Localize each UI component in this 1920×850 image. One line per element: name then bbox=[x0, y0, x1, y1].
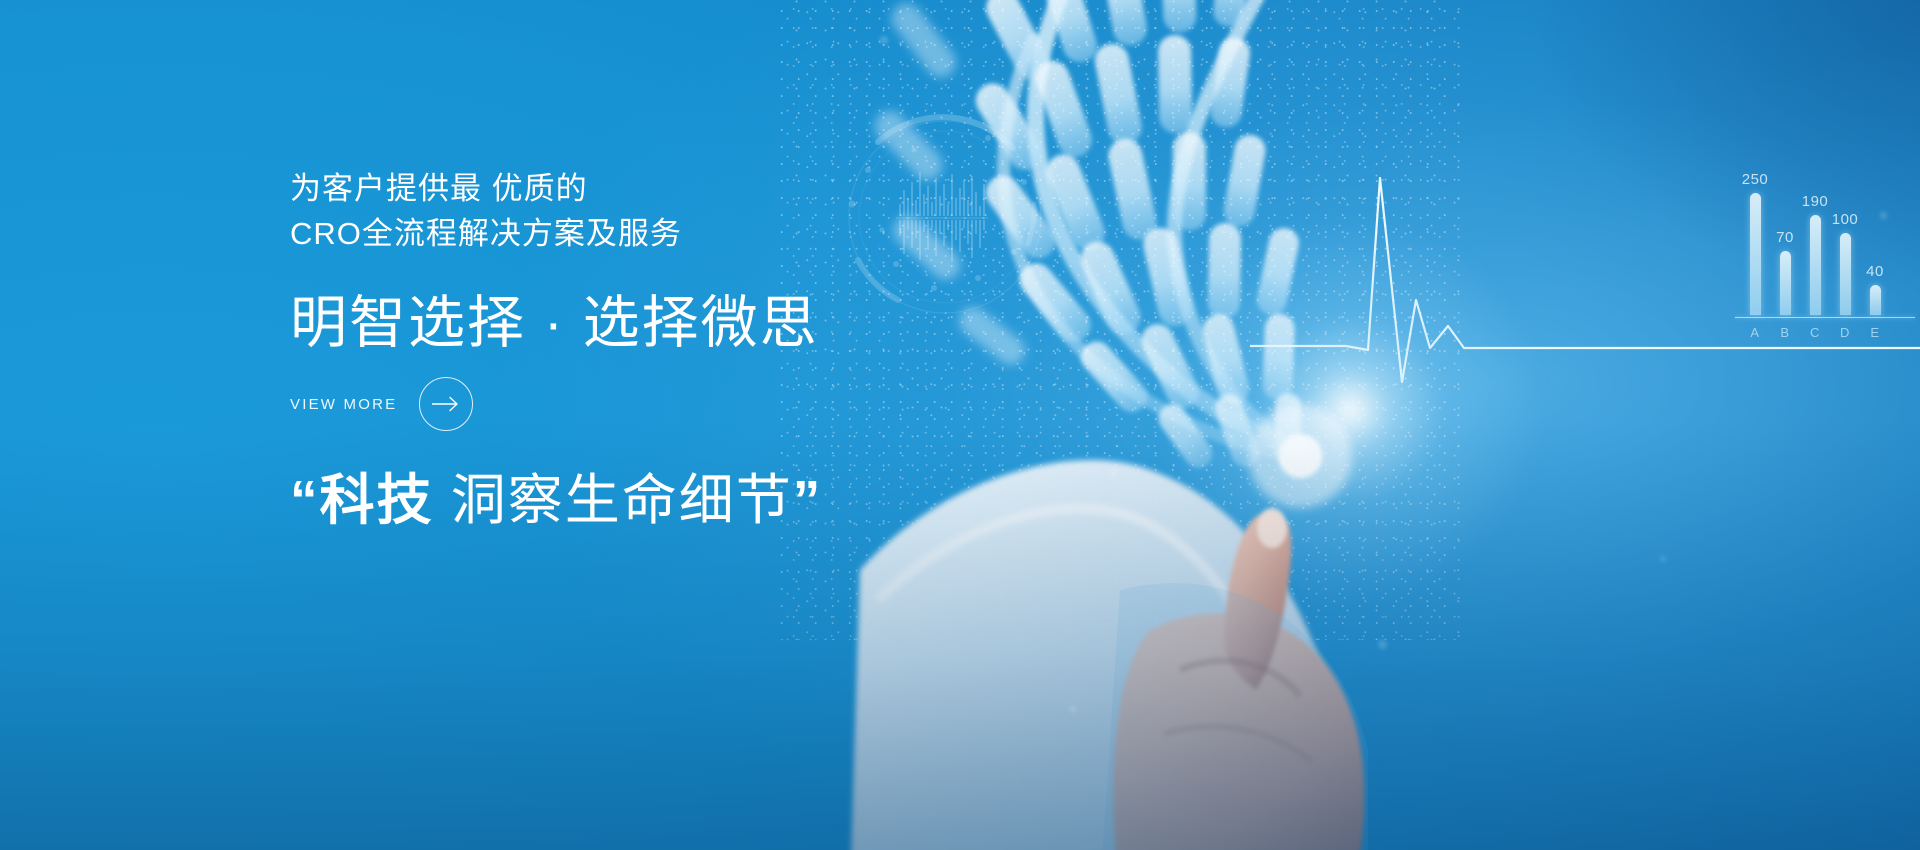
view-more-label: VIEW MORE bbox=[290, 396, 397, 413]
hero-content: 为客户提供最 优质的 CRO全流程解决方案及服务 明智选择 · 选择微思 VIE… bbox=[290, 0, 990, 850]
chart-bar bbox=[1750, 193, 1761, 315]
hero-banner: 250 70 190 100 40 A B C bbox=[0, 0, 1920, 850]
quote-open-mark: “ bbox=[290, 469, 320, 531]
hero-subtitle: 为客户提供最 优质的 CRO全流程解决方案及服务 bbox=[290, 166, 682, 257]
chart-category-label: E bbox=[1869, 325, 1881, 340]
chart-category-label: C bbox=[1809, 325, 1821, 340]
quote-rest: 洞察生命细节 bbox=[434, 469, 793, 531]
bar-chart: 250 70 190 100 40 A B C bbox=[1735, 150, 1915, 370]
chart-bar-column: 190 bbox=[1809, 150, 1821, 315]
chart-plot-area: 250 70 190 100 40 bbox=[1735, 150, 1915, 315]
bokeh-dot bbox=[1070, 706, 1076, 712]
chart-bar bbox=[1780, 251, 1791, 315]
chart-value-label: 250 bbox=[1742, 171, 1769, 188]
chart-category-label: D bbox=[1839, 325, 1851, 340]
chart-value-label: 190 bbox=[1802, 193, 1829, 210]
chart-bar-column: 100 bbox=[1839, 150, 1851, 315]
chart-category-label: B bbox=[1779, 325, 1791, 340]
view-more-button[interactable]: VIEW MORE bbox=[290, 377, 473, 431]
bokeh-dot bbox=[1880, 212, 1887, 219]
chart-bar-column: 250 bbox=[1749, 150, 1761, 315]
chart-bar bbox=[1810, 215, 1821, 315]
chart-category-label: A bbox=[1749, 325, 1761, 340]
chart-bar-column: 70 bbox=[1779, 150, 1791, 315]
quote-emphasis: 科技 bbox=[320, 469, 434, 531]
chart-value-label: 40 bbox=[1866, 263, 1884, 280]
chart-bar bbox=[1840, 233, 1851, 315]
quote-close-mark: ” bbox=[793, 469, 823, 531]
chart-x-axis bbox=[1735, 317, 1915, 318]
chart-value-label: 70 bbox=[1776, 229, 1794, 246]
chart-value-label: 100 bbox=[1832, 211, 1859, 228]
arrow-right-icon[interactable] bbox=[419, 377, 473, 431]
bokeh-dot bbox=[1110, 470, 1117, 477]
chart-category-labels: A B C D E bbox=[1735, 325, 1915, 340]
bokeh-dot bbox=[1660, 556, 1666, 562]
chart-bar-column: 40 bbox=[1869, 150, 1881, 315]
hero-quote: “科技 洞察生命细节” bbox=[290, 455, 822, 535]
hero-headline: 明智选择 · 选择微思 bbox=[290, 277, 819, 359]
bokeh-dot bbox=[1378, 640, 1387, 649]
chart-bar bbox=[1870, 285, 1881, 315]
